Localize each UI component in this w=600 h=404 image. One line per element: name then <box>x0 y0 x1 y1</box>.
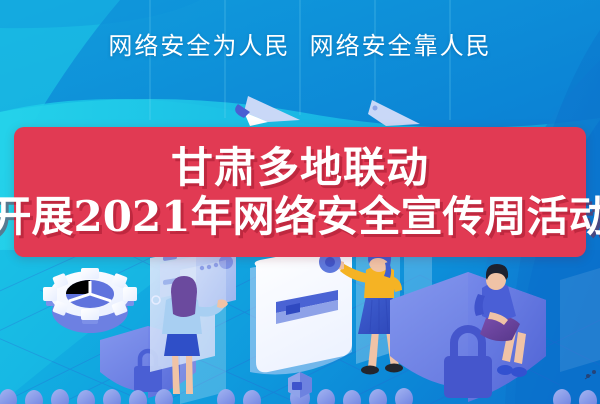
poster-root: 网络安全为人民 网络安全靠人民 甘肃多地联动 开展2021年网络安全宣传周活动 <box>0 0 600 404</box>
slogan-text: 网络安全为人民 网络安全靠人民 <box>0 26 600 61</box>
title-banner: 甘肃多地联动 开展2021年网络安全宣传周活动 <box>14 127 586 257</box>
title-line-1: 甘肃多地联动 <box>171 146 429 191</box>
title-line-2: 开展2021年网络安全宣传周活动 <box>0 195 600 240</box>
